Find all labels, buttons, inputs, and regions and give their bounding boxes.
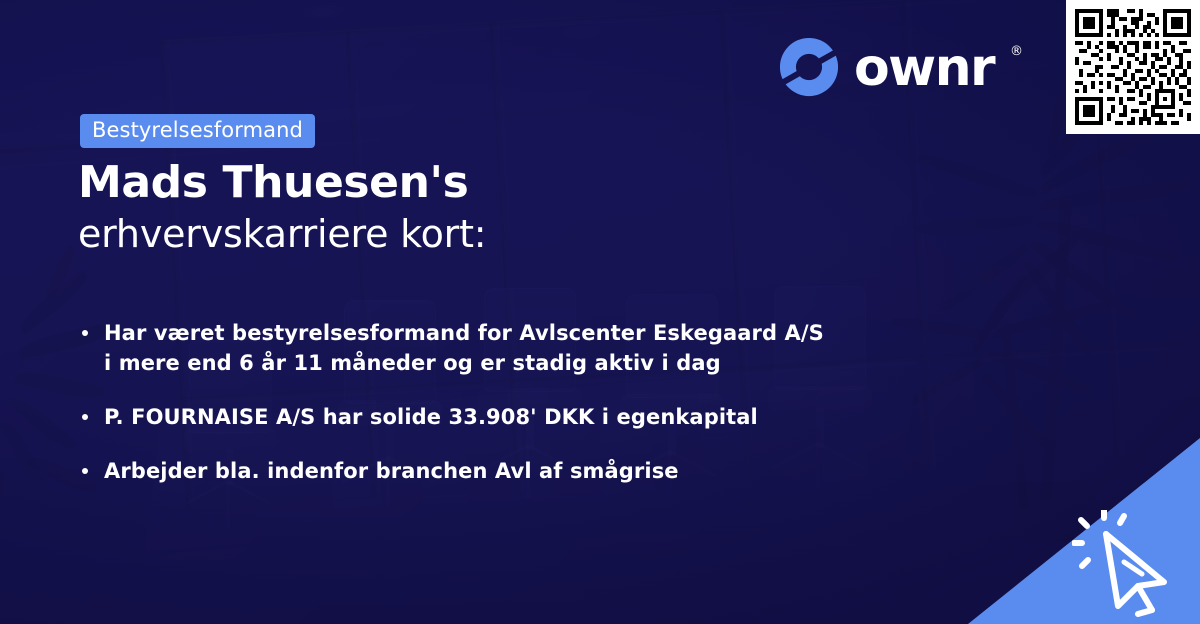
social-share-card: Bestyrelsesformand Mads Thuesen's erhver…	[0, 0, 1200, 624]
ownr-logo: ownr ®	[778, 36, 1021, 98]
registered-trademark-symbol: ®	[1010, 45, 1023, 58]
list-item-line-1: Arbejder bla. indenfor branchen Avl af s…	[104, 459, 679, 483]
ownr-circle-swirl-logo-icon	[778, 36, 840, 98]
bullet-dot-icon	[82, 414, 88, 420]
qr-code-icon	[1075, 9, 1191, 125]
page-title-line-2: erhvervskarriere kort:	[78, 211, 486, 257]
card-content: Bestyrelsesformand Mads Thuesen's erhver…	[0, 0, 1200, 624]
career-fact-list: Har været bestyrelsesformand for Avlscen…	[80, 318, 960, 486]
page-title-line-1: Mads Thuesen's	[78, 157, 468, 209]
list-item: P. FOURNAISE A/S har solide 33.908' DKK …	[80, 402, 960, 432]
list-item: Har været bestyrelsesformand for Avlscen…	[80, 318, 960, 378]
role-badge: Bestyrelsesformand	[80, 114, 315, 148]
click-cursor-icon	[1072, 510, 1184, 618]
ownr-wordmark: ownr	[854, 42, 994, 94]
list-item-line-2: i mere end 6 år 11 måneder og er stadig …	[104, 348, 960, 378]
bullet-dot-icon	[82, 330, 88, 336]
qr-code[interactable]	[1066, 0, 1200, 134]
list-item-line-1: Har været bestyrelsesformand for Avlscen…	[104, 321, 824, 345]
list-item-line-1: P. FOURNAISE A/S har solide 33.908' DKK …	[104, 405, 758, 429]
list-item: Arbejder bla. indenfor branchen Avl af s…	[80, 456, 960, 486]
bullet-dot-icon	[82, 468, 88, 474]
